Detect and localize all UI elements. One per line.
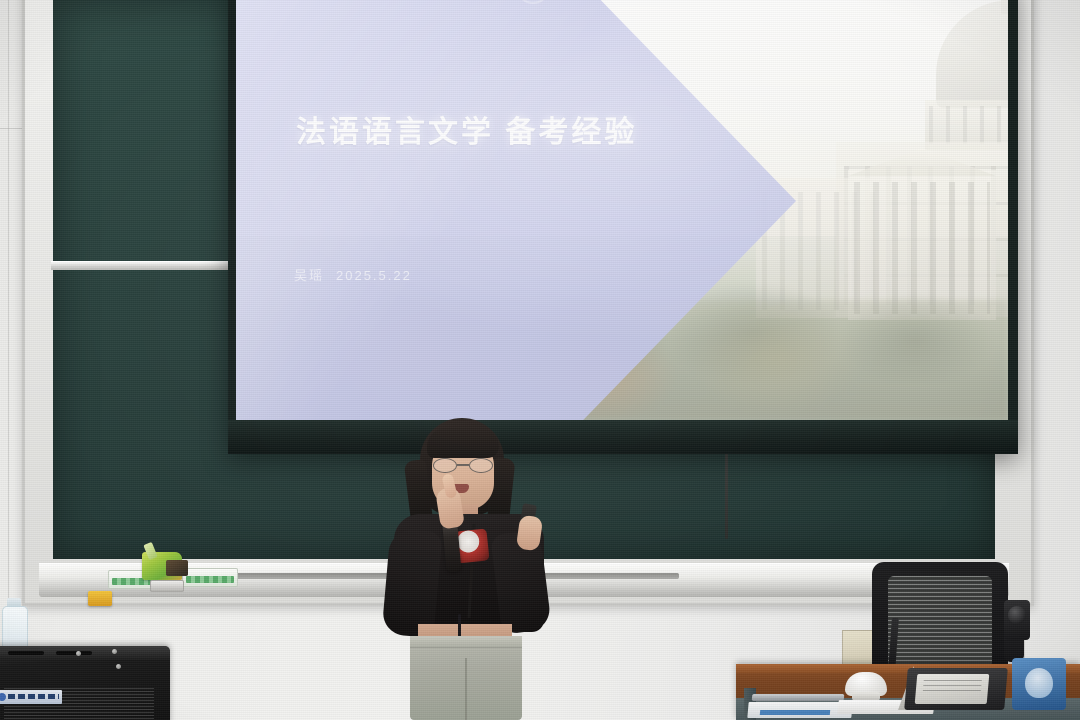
yellow-eraser — [88, 591, 112, 606]
cabinet-screw — [112, 649, 117, 654]
jeans-waistband — [410, 636, 522, 648]
university-logo: 上海师范大学 — [516, 0, 697, 4]
slide-date-label: 2025.5.22 — [336, 268, 412, 283]
presentation-slide: 上海师范大学 法语语言文学 备考经验 吴瑶2025.5.22 — [236, 0, 1008, 420]
university-wordmark: 上海师范大学 — [559, 0, 697, 2]
presenter-name-label: 吴瑶 — [294, 268, 324, 283]
hair-fringe — [427, 428, 499, 458]
projection-screen: 上海师范大学 法语语言文学 备考经验 吴瑶2025.5.22 — [228, 0, 1018, 454]
cabinet-vent-slot — [8, 651, 44, 655]
chalk-box — [182, 568, 238, 587]
presenter — [372, 418, 568, 720]
glasses-lens-right — [469, 458, 493, 473]
screen-bottom-bar — [228, 420, 1018, 454]
paper-blue-band — [760, 710, 830, 715]
tray-clutter — [166, 560, 188, 576]
jeans — [410, 636, 522, 720]
classroom-photo-scene: 上海师范大学 法语语言文学 备考经验 吴瑶2025.5.22 — [0, 0, 1080, 720]
cabinet-screw — [76, 651, 81, 656]
screen-surface: 上海师范大学 法语语言文学 备考经验 吴瑶2025.5.22 — [236, 0, 1008, 420]
blue-desktop-device — [1012, 658, 1066, 710]
board-eraser — [150, 580, 184, 592]
arm-left — [381, 528, 442, 638]
slide-subtitle: 吴瑶2025.5.22 — [294, 265, 412, 284]
glasses-icon — [433, 458, 493, 473]
chair-mesh-back — [888, 576, 992, 668]
cabinet-vent-slot — [56, 651, 92, 655]
cabinet-label-icon — [0, 693, 6, 701]
slide-title: 法语语言文学 备考经验 — [296, 107, 637, 151]
glasses-lens-left — [433, 458, 457, 473]
university-seal-icon — [516, 0, 550, 4]
metal-bar — [752, 694, 845, 701]
cabinet-screw — [116, 664, 121, 669]
wall-seam — [8, 0, 9, 640]
av-equipment-cabinet — [0, 646, 170, 720]
camera-lens-icon — [1008, 606, 1026, 624]
glasses-bridge — [457, 464, 469, 466]
cabinet-label — [0, 690, 62, 704]
control-panel-screen[interactable] — [915, 674, 990, 704]
